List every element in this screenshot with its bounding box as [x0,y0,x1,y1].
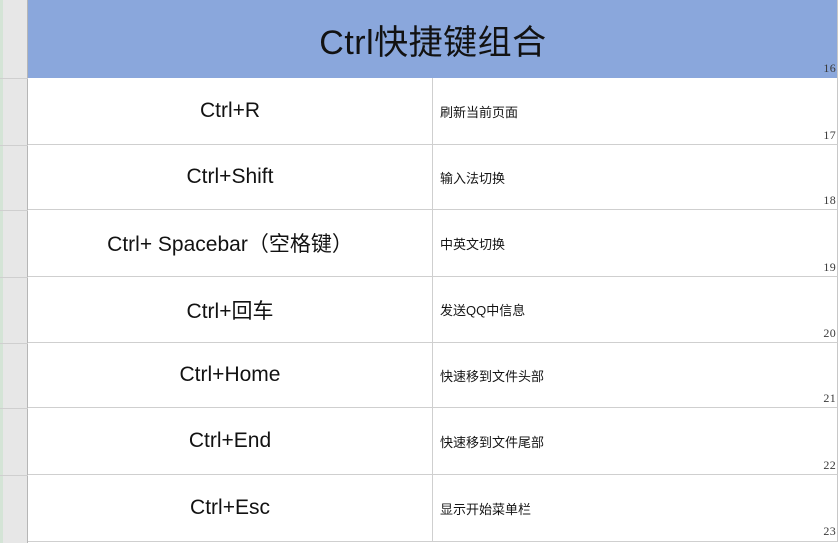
table-row[interactable]: Ctrl+回车 发送QQ中信息 [28,277,838,343]
shortcut-key-cell[interactable]: Ctrl+Esc [28,475,433,541]
shortcut-key-cell[interactable]: Ctrl+回车 [28,277,433,342]
row-number-23[interactable]: 23 [823,525,836,537]
shortcut-desc-cell[interactable]: 刷新当前页面 [433,78,837,144]
table-row[interactable]: Ctrl+End 快速移到文件尾部 [28,408,838,475]
row-divider [0,210,28,211]
table-row[interactable]: Ctrl+Esc 显示开始菜单栏 [28,475,838,542]
shortcut-desc-cell[interactable]: 快速移到文件尾部 [433,408,837,474]
row-number-16[interactable]: 16 [823,62,836,74]
row-divider [0,475,28,476]
row-header-gutter [0,0,28,543]
row-number-18[interactable]: 18 [823,194,836,206]
shortcut-desc-cell[interactable]: 发送QQ中信息 [433,277,837,342]
shortcut-desc-cell[interactable]: 快速移到文件头部 [433,343,837,407]
shortcut-desc-cell[interactable]: 中英文切换 [433,210,837,276]
shortcut-key-cell[interactable]: Ctrl+Home [28,343,433,407]
table-title-band: Ctrl快捷键组合 [28,0,838,78]
shortcut-key-cell[interactable]: Ctrl+End [28,408,433,474]
row-number-21[interactable]: 21 [823,392,836,404]
spreadsheet-sheet: 16 17 18 19 20 21 22 23 Ctrl快捷键组合 Ctrl+R… [0,0,840,543]
row-divider [0,408,28,409]
row-divider [0,277,28,278]
row-divider [0,78,28,79]
table-title: Ctrl快捷键组合 [28,0,838,78]
table-row[interactable]: Ctrl+Home 快速移到文件头部 [28,343,838,408]
table-row[interactable]: Ctrl+ Spacebar（空格键） 中英文切换 [28,210,838,277]
row-number-19[interactable]: 19 [823,261,836,273]
row-number-17[interactable]: 17 [823,129,836,141]
shortcut-table: Ctrl快捷键组合 Ctrl+R 刷新当前页面 Ctrl+Shift 输入法切换… [28,0,840,543]
table-row[interactable]: Ctrl+Shift 输入法切换 [28,145,838,210]
gutter-accent-stripe [0,0,3,543]
row-divider [0,343,28,344]
shortcut-desc-cell[interactable]: 显示开始菜单栏 [433,475,837,541]
row-number-22[interactable]: 22 [823,459,836,471]
shortcut-key-cell[interactable]: Ctrl+ Spacebar（空格键） [28,210,433,276]
row-number-20[interactable]: 20 [823,327,836,339]
shortcut-key-cell[interactable]: Ctrl+R [28,78,433,144]
row-divider [0,145,28,146]
shortcut-desc-cell[interactable]: 输入法切换 [433,145,837,209]
table-row[interactable]: Ctrl+R 刷新当前页面 [28,78,838,145]
shortcut-key-cell[interactable]: Ctrl+Shift [28,145,433,209]
